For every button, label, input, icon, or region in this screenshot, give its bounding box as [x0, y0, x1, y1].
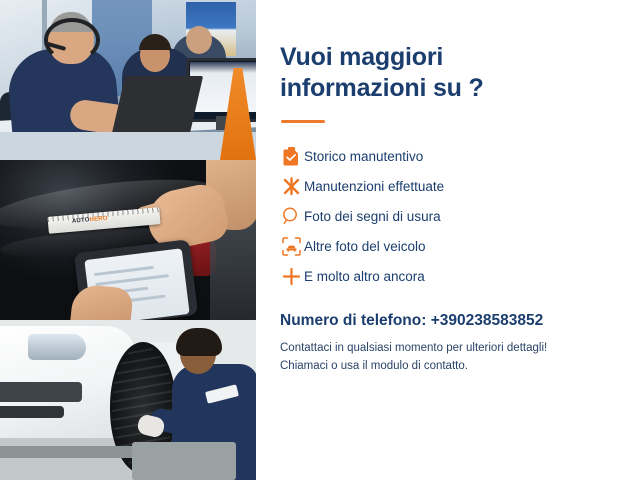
headline-line-2: informazioni su ? [280, 73, 520, 104]
list-item-label: Manutenzioni effettuate [304, 179, 444, 194]
checklist-icon [278, 145, 304, 167]
contact-subtext-line-2: Chiamaci o usa il modulo di contatto. [280, 358, 610, 376]
magnifier-icon [278, 205, 304, 227]
feature-list: Storico manutentivo Manutenzioni effettu… [278, 142, 568, 292]
tablet-row [95, 274, 169, 286]
content-panel: Vuoi maggiori informazioni su ? Storico … [256, 0, 640, 480]
desk-front [0, 132, 256, 160]
car-grille-upper [0, 382, 82, 402]
page-title: Vuoi maggiori informazioni su ? [280, 42, 520, 103]
list-item: E molto altro ancora [278, 262, 568, 290]
tools-icon [278, 175, 304, 197]
mechanic-hair [176, 328, 222, 356]
car-lift-arm [0, 446, 150, 458]
headline-line-1: Vuoi maggiori [280, 42, 520, 73]
photo-column: AUTOHERO [0, 0, 256, 480]
headset-worn-icon [44, 18, 100, 62]
photo-mechanic-tyre [0, 320, 256, 480]
list-item-label: Foto dei segni di usura [304, 209, 441, 224]
car-scan-icon [278, 235, 304, 257]
list-item-label: Storico manutentivo [304, 149, 423, 164]
title-divider [281, 120, 325, 123]
photo-call-center [0, 0, 256, 160]
list-item: Storico manutentivo [278, 142, 568, 170]
headlight [28, 334, 86, 360]
list-item: Altre foto del veicolo [278, 232, 568, 260]
contact-subtext-line-1: Contattaci in qualsiasi momento per ulte… [280, 340, 610, 358]
list-item-label: Altre foto del veicolo [304, 239, 426, 254]
list-item: Foto dei segni di usura [278, 202, 568, 230]
contact-subtext: Contattaci in qualsiasi momento per ulte… [280, 340, 610, 376]
car-grille-lower [0, 406, 64, 418]
agent-head-3 [186, 26, 212, 54]
list-item: Manutenzioni effettuate [278, 172, 568, 200]
plus-icon [278, 265, 304, 287]
workshop-cabinet [132, 442, 236, 480]
autohero-info-banner: AUTOHERO [0, 0, 640, 480]
phone-number: Numero di telefono: +390238583852 [280, 312, 543, 330]
list-item-label: E molto altro ancora [304, 269, 425, 284]
laptop-screen [111, 76, 203, 138]
photo-inspection-ruler: AUTOHERO [0, 160, 256, 320]
tablet-row [94, 266, 154, 276]
